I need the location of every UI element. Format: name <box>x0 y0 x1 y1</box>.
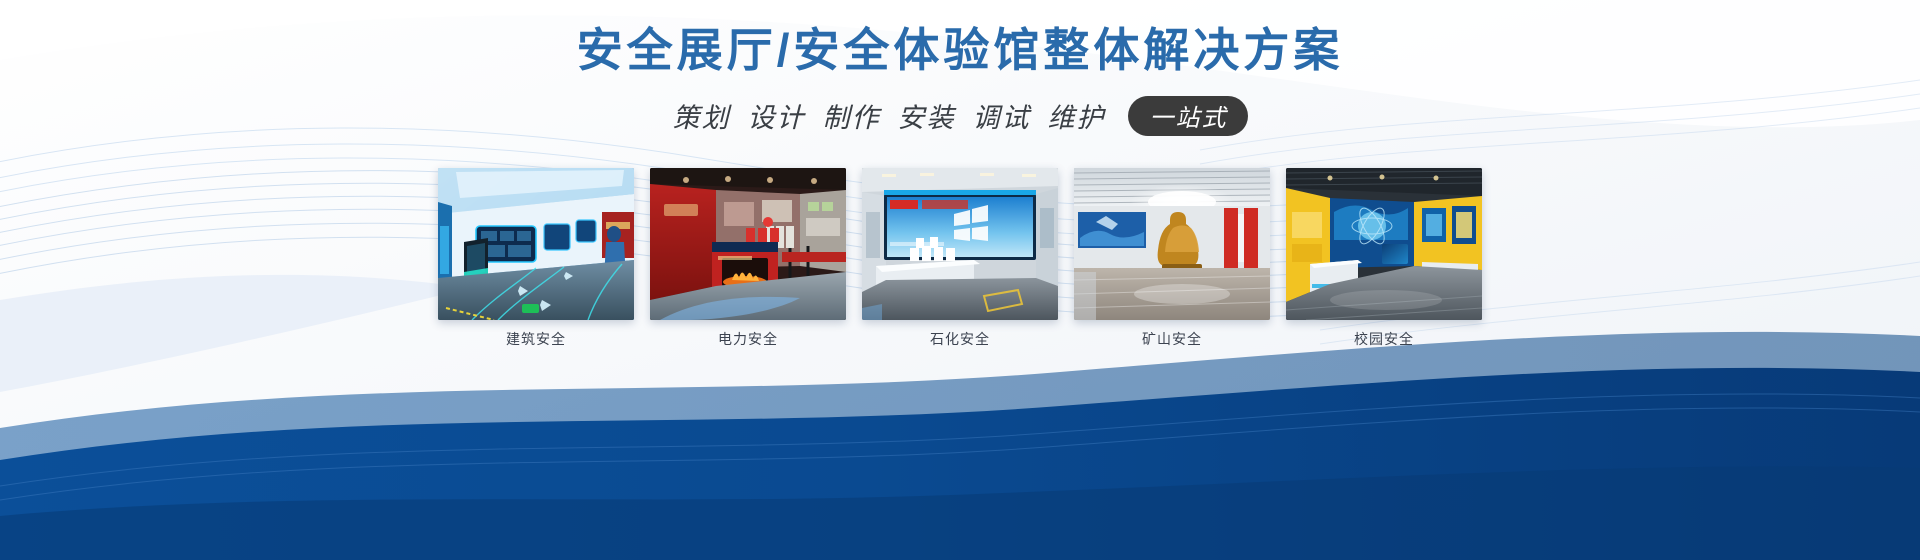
led-video-wall-hall-illustration <box>862 168 1058 320</box>
case-caption: 电力安全 <box>718 332 778 346</box>
case-card[interactable]: 建筑安全 <box>438 168 634 346</box>
red-fire-equipment-room-illustration <box>650 168 846 320</box>
case-thumbnail-image[interactable] <box>1286 168 1482 320</box>
case-card[interactable]: 电力安全 <box>650 168 846 346</box>
bottom-blue-band <box>0 310 1920 560</box>
banner-header: 安全展厅/安全体验馆整体解决方案 策划 设计 制作 安装 调试 维护 一站式 <box>0 0 1920 136</box>
case-caption: 石化安全 <box>930 332 990 346</box>
page-title: 安全展厅/安全体验馆整体解决方案 <box>0 22 1920 80</box>
safety-exhibition-banner: 安全展厅/安全体验馆整体解决方案 策划 设计 制作 安装 调试 维护 一站式 <box>0 0 1920 560</box>
case-thumbnail-row: 建筑安全 <box>0 168 1920 346</box>
service-word: 制作 <box>823 96 881 135</box>
one-stop-badge: 一站式 <box>1128 96 1248 136</box>
case-caption: 矿山安全 <box>1142 332 1202 346</box>
service-word: 维护 <box>1048 96 1106 135</box>
case-card[interactable]: 校园安全 <box>1286 168 1482 346</box>
service-subtitle: 策划 设计 制作 安装 调试 维护 一站式 <box>0 96 1920 136</box>
service-word: 安装 <box>898 96 956 135</box>
blue-exhibition-corridor-illustration <box>438 168 634 320</box>
service-word: 策划 <box>673 96 731 135</box>
service-word: 设计 <box>748 96 806 135</box>
case-card[interactable]: 矿山安全 <box>1074 168 1270 346</box>
case-caption: 建筑安全 <box>506 332 566 346</box>
bell-dome-exhibit-hall-illustration <box>1074 168 1270 320</box>
case-caption: 校园安全 <box>1354 332 1414 346</box>
case-thumbnail-image[interactable] <box>1074 168 1270 320</box>
case-thumbnail-image[interactable] <box>438 168 634 320</box>
case-thumbnail-image[interactable] <box>862 168 1058 320</box>
case-card[interactable]: 石化安全 <box>862 168 1058 346</box>
service-word-list: 策划 设计 制作 安装 调试 维护 <box>673 96 1106 135</box>
case-thumbnail-image[interactable] <box>650 168 846 320</box>
yellow-blue-campus-corridor-illustration <box>1286 168 1482 320</box>
service-word: 调试 <box>973 96 1031 135</box>
